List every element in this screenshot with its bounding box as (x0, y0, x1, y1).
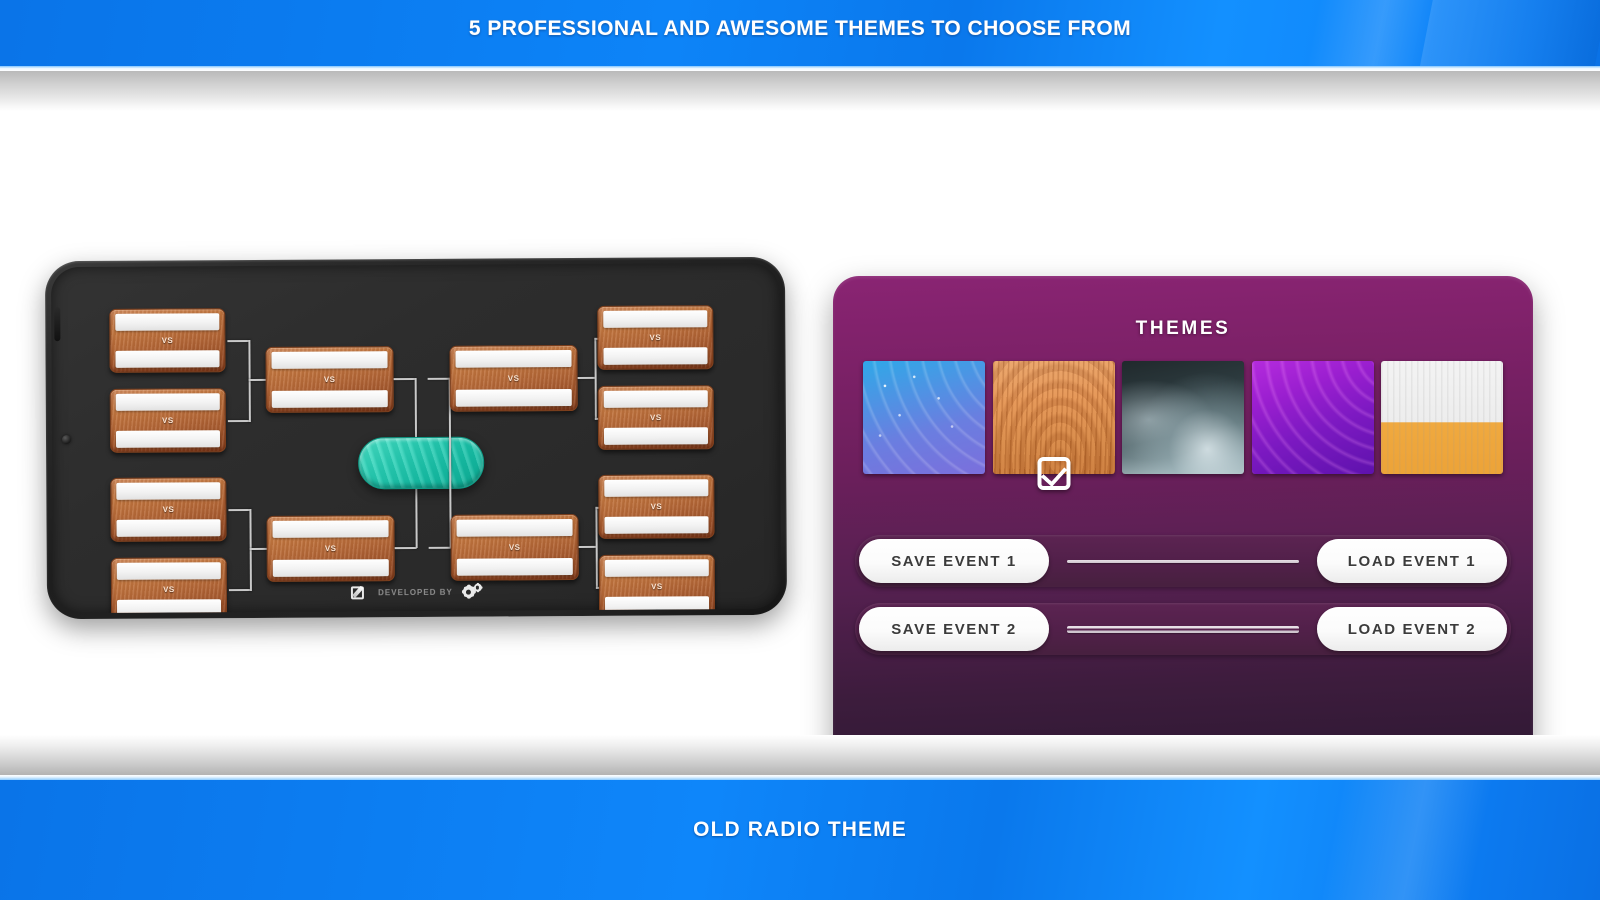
camera-dot-icon (62, 435, 71, 444)
edit-icon[interactable] (351, 584, 368, 601)
slot-top[interactable] (605, 559, 709, 577)
developer-credit: DEVELOPED BY (378, 587, 453, 596)
theme-thumbnail-row (863, 361, 1503, 479)
event-row-1: SAVE EVENT 1 LOAD EVENT 1 (855, 535, 1511, 587)
bottom-banner: OLD RADIO THEME (0, 780, 1600, 900)
slot-top[interactable] (271, 351, 387, 369)
slot-top[interactable] (457, 519, 573, 537)
theme-thumbnail-blue-waves[interactable] (863, 361, 985, 474)
bracket-match-l1-1[interactable]: VS (109, 308, 225, 373)
bracket-line (228, 420, 250, 422)
bracket-match-r1-3[interactable]: VS (598, 474, 714, 539)
theme-thumbnail-smoke[interactable] (1122, 361, 1244, 474)
save-event-1-button[interactable]: SAVE EVENT 1 (859, 539, 1049, 583)
bracket-line (579, 546, 597, 548)
phone-screen[interactable]: VS VS VS VS (51, 263, 781, 613)
theme-swatch (1252, 361, 1374, 474)
vs-label: VS (268, 544, 394, 554)
event-row-2: SAVE EVENT 2 LOAD EVENT 2 (855, 603, 1511, 655)
gear-icon-small (474, 584, 482, 592)
vs-label: VS (267, 375, 393, 385)
vs-label: VS (110, 336, 224, 346)
bracket-match-r2-1[interactable]: VS (449, 345, 577, 412)
bracket-match-l1-3[interactable]: VS (110, 477, 226, 542)
bracket-match-r1-2[interactable]: VS (598, 385, 714, 450)
bracket-final-slot[interactable] (358, 437, 484, 490)
bottom-shelf-gradient (0, 735, 1600, 775)
top-shelf-gradient (0, 71, 1600, 111)
speaker-notch (54, 307, 60, 341)
slot-bottom[interactable] (603, 347, 707, 365)
slot-bottom[interactable] (116, 519, 220, 537)
slot-bottom[interactable] (115, 350, 219, 368)
themes-panel-title: THEMES (833, 318, 1533, 340)
slot-top[interactable] (604, 479, 708, 497)
bracket-line (428, 378, 450, 380)
event-row-1-connector (1067, 560, 1299, 563)
bracket-line (395, 547, 417, 549)
slot-bottom[interactable] (604, 516, 708, 534)
slot-bottom[interactable] (456, 389, 572, 407)
checkbox-checked-icon[interactable] (1037, 457, 1070, 490)
slot-top[interactable] (273, 520, 389, 538)
top-banner: 5 PROFESSIONAL AND AWESOME THEMES TO CHO… (0, 0, 1600, 66)
bracket-match-l2-1[interactable]: VS (265, 346, 393, 413)
stage: VS VS VS VS (0, 111, 1600, 735)
slot-top[interactable] (116, 393, 220, 411)
top-banner-title: 5 PROFESSIONAL AND AWESOME THEMES TO CHO… (0, 17, 1600, 41)
vs-label: VS (451, 374, 577, 384)
bottom-banner-title: OLD RADIO THEME (0, 818, 1600, 842)
load-event-2-button[interactable]: LOAD EVENT 2 (1317, 607, 1507, 651)
slot-bottom[interactable] (457, 558, 573, 576)
bracket-line (429, 547, 451, 549)
themes-panel: THEMES SAVE EVENT 1 LOAD EVENT 1 (833, 276, 1533, 791)
bracket-match-l1-2[interactable]: VS (110, 388, 226, 453)
vs-label: VS (599, 413, 713, 423)
vs-label: VS (111, 416, 225, 426)
bracket-line (250, 548, 268, 550)
theme-thumbnail-purple-waves[interactable] (1252, 361, 1374, 474)
vs-label: VS (111, 505, 225, 515)
slot-bottom[interactable] (272, 390, 388, 408)
vs-label: VS (598, 333, 712, 343)
bracket-line (578, 377, 596, 379)
slot-top[interactable] (603, 310, 707, 328)
slot-bottom[interactable] (604, 427, 708, 445)
theme-swatch (1381, 361, 1503, 474)
event-row-2-connector (1067, 626, 1299, 633)
vs-label: VS (452, 543, 578, 553)
load-event-1-button[interactable]: LOAD EVENT 1 (1317, 539, 1507, 583)
slot-top[interactable] (115, 313, 219, 331)
gear-icon[interactable] (463, 584, 483, 600)
phone-footer: DEVELOPED BY (53, 577, 781, 607)
bracket-line (249, 379, 267, 381)
theme-swatch (863, 361, 985, 474)
slot-top[interactable] (455, 350, 571, 368)
bracket-line (227, 340, 249, 342)
bracket-match-l2-2[interactable]: VS (266, 515, 394, 582)
slot-top[interactable] (117, 562, 221, 580)
slot-top[interactable] (116, 482, 220, 500)
theme-thumbnail-wood[interactable] (993, 361, 1115, 474)
slot-top[interactable] (604, 390, 708, 408)
bracket-line (394, 378, 416, 380)
bracket-match-r1-1[interactable]: VS (597, 305, 713, 370)
save-event-2-button[interactable]: SAVE EVENT 2 (859, 607, 1049, 651)
vs-label: VS (599, 502, 713, 512)
slot-bottom[interactable] (273, 559, 389, 577)
bracket-match-r2-2[interactable]: VS (450, 514, 578, 581)
slot-bottom[interactable] (116, 430, 220, 448)
theme-swatch (1122, 361, 1244, 474)
bracket-line (228, 509, 250, 511)
phone-device: VS VS VS VS (45, 257, 787, 620)
theme-thumbnail-old-radio[interactable] (1381, 361, 1503, 474)
